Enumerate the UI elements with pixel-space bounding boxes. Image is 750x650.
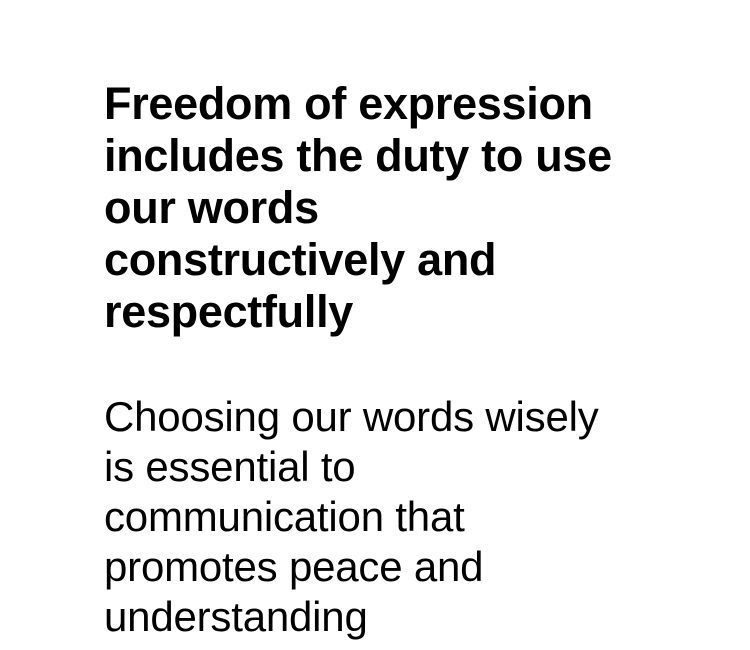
slide-subhead: Choosing our words wisely is essential t…	[104, 392, 624, 642]
headline-subhead-spacer	[104, 338, 624, 392]
slide-headline: Freedom of expression includes the duty …	[104, 78, 624, 338]
slide-canvas: Freedom of expression includes the duty …	[0, 0, 750, 650]
slide-content-block: Freedom of expression includes the duty …	[104, 78, 624, 642]
